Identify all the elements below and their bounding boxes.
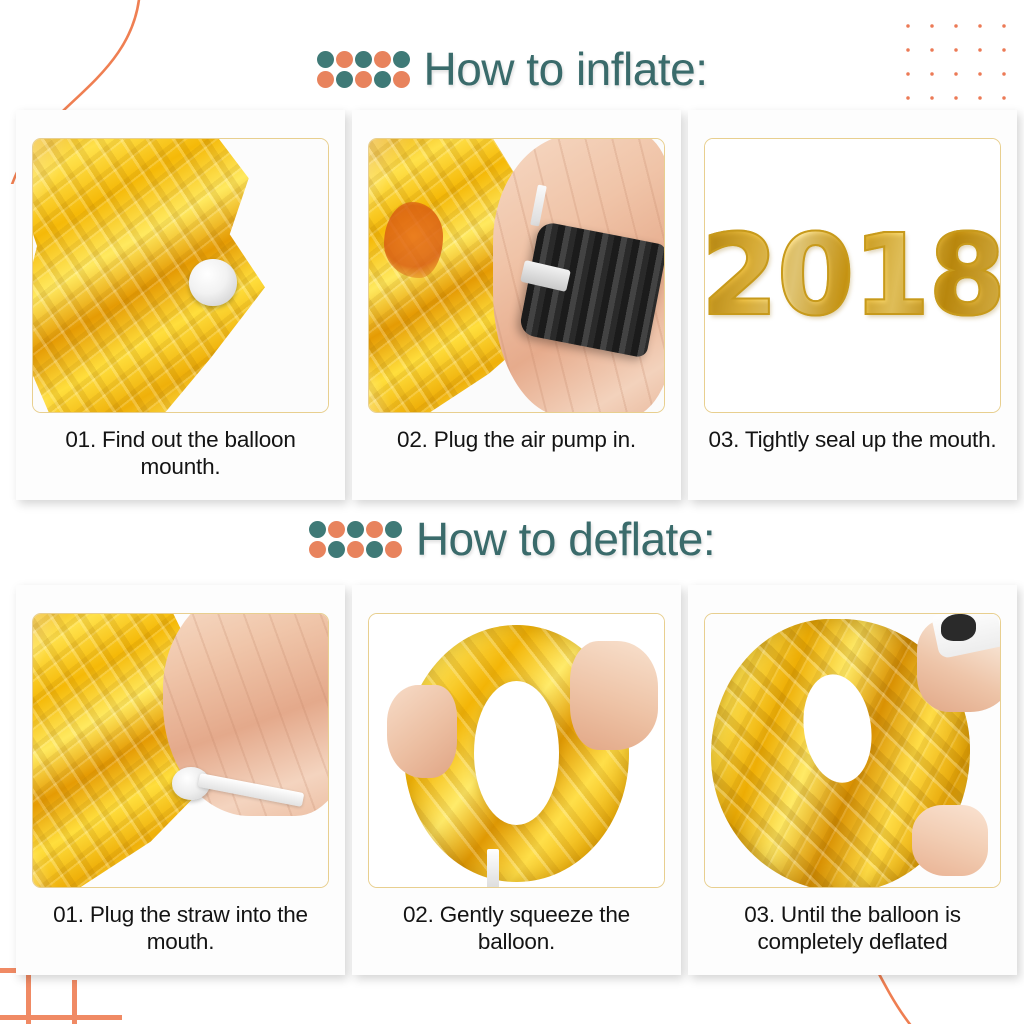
section-heading-deflate: How to deflate:: [0, 512, 1024, 566]
step-caption-inflate-3: 03. Tightly seal up the mouth.: [704, 413, 1001, 500]
step-caption-deflate-3: 03. Until the balloon is completely defl…: [704, 888, 1001, 975]
orange-blur-graphic: [384, 202, 443, 278]
section-heading-inflate: How to inflate:: [0, 42, 1024, 96]
step-photo-inflate-1: [32, 138, 329, 413]
dark-accent-graphic: [941, 614, 976, 641]
balloon-number-graphic: 2018: [705, 220, 1000, 332]
step-caption-deflate-1: 01. Plug the straw into the mouth.: [32, 888, 329, 975]
dot-pattern-icon: [317, 51, 410, 88]
step-caption-inflate-2: 02. Plug the air pump in.: [368, 413, 665, 500]
air-pump-graphic: [519, 220, 665, 357]
card-row-inflate: 01. Find out the balloon mounth. 02. Plu…: [16, 110, 1016, 500]
step-photo-deflate-3: [704, 613, 1001, 888]
step-card-inflate-1[interactable]: 01. Find out the balloon mounth.: [16, 110, 345, 500]
step-card-deflate-2[interactable]: 02. Gently squeeze the balloon.: [352, 585, 681, 975]
step-caption-inflate-1: 01. Find out the balloon mounth.: [32, 413, 329, 500]
step-caption-deflate-2: 02. Gently squeeze the balloon.: [368, 888, 665, 975]
hand-graphic-right: [570, 641, 659, 750]
step-photo-deflate-2: [368, 613, 665, 888]
straw-graphic: [487, 849, 499, 888]
infographic-page: How to inflate: 01. Find out the balloon…: [0, 0, 1024, 1024]
card-row-deflate: 01. Plug the straw into the mouth. 02. G…: [16, 585, 1016, 975]
step-card-inflate-2[interactable]: 02. Plug the air pump in.: [352, 110, 681, 500]
step-photo-inflate-2: [368, 138, 665, 413]
page-title-deflate: How to deflate:: [416, 512, 715, 566]
balloon-valve-graphic: [189, 259, 236, 305]
step-card-deflate-3[interactable]: 03. Until the balloon is completely defl…: [688, 585, 1017, 975]
step-card-inflate-3[interactable]: 2018 03. Tightly seal up the mouth.: [688, 110, 1017, 500]
hand-graphic-bottom: [912, 805, 989, 876]
dot-pattern-icon: [309, 521, 402, 558]
page-title-inflate: How to inflate:: [424, 42, 708, 96]
step-photo-deflate-1: [32, 613, 329, 888]
step-card-deflate-1[interactable]: 01. Plug the straw into the mouth.: [16, 585, 345, 975]
balloon-year-text: 2018: [704, 220, 1001, 332]
hand-graphic-left: [387, 685, 458, 778]
step-photo-inflate-3: 2018: [704, 138, 1001, 413]
